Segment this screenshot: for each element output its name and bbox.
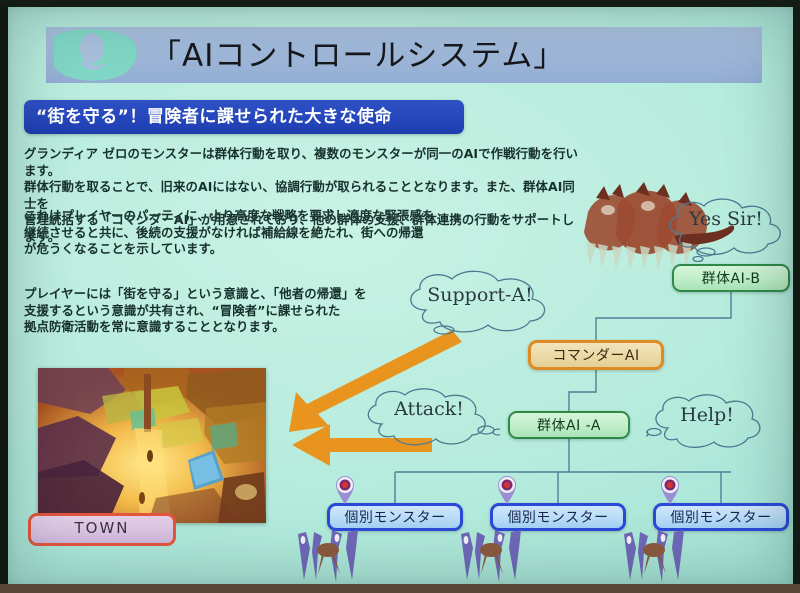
body-paragraph-2: これはプレイヤーのパーティに、より高度な戦略を要求し適度な緊張感を 継続させると… [24,208,454,258]
node-commander-ai[interactable]: コマンダーAI [528,340,664,370]
node-group-ai-b[interactable]: 群体AI-B [672,264,790,292]
monster-swarm-icon [455,528,575,588]
body-paragraph-3: プレイヤーには「街を守る」という意識と、「他者の帰還」を 支援するという意識が共… [24,286,424,336]
frame-edge-top [0,0,800,7]
callout-yes-sir-label: Yes Sir! [660,204,792,234]
frame-edge-left [0,0,8,593]
monster-swarm-icon [618,528,738,588]
town-label-text: TOWN [28,513,176,546]
subtitle-text: “街を守る”！冒険者に課せられた大きな使命 [36,100,466,134]
target-eye-icon [332,472,358,504]
node-group-ai-a[interactable]: 群体AI -A [508,411,630,439]
callout-help-label: Help! [646,400,768,430]
header-blob-icon [48,28,144,82]
frame-edge-right [793,0,800,593]
callout-attack-label: Attack! [358,394,500,424]
page-title: 「AIコントロールシステム」 [150,30,750,82]
node-monster-3[interactable]: 個別モンスター [653,503,789,531]
callout-support-a-label: Support-A! [400,280,560,310]
town-concept-art [38,368,266,523]
monster-swarm-icon [292,528,412,588]
target-eye-icon [494,472,520,504]
frame-edge-bottom [0,584,800,593]
presentation-slide: 「AIコントロールシステム」 “街を守る”！冒険者に課せられた大きな使命 グラン… [0,0,800,593]
node-monster-1[interactable]: 個別モンスター [327,503,463,531]
target-eye-icon [657,472,683,504]
node-monster-2[interactable]: 個別モンスター [490,503,626,531]
